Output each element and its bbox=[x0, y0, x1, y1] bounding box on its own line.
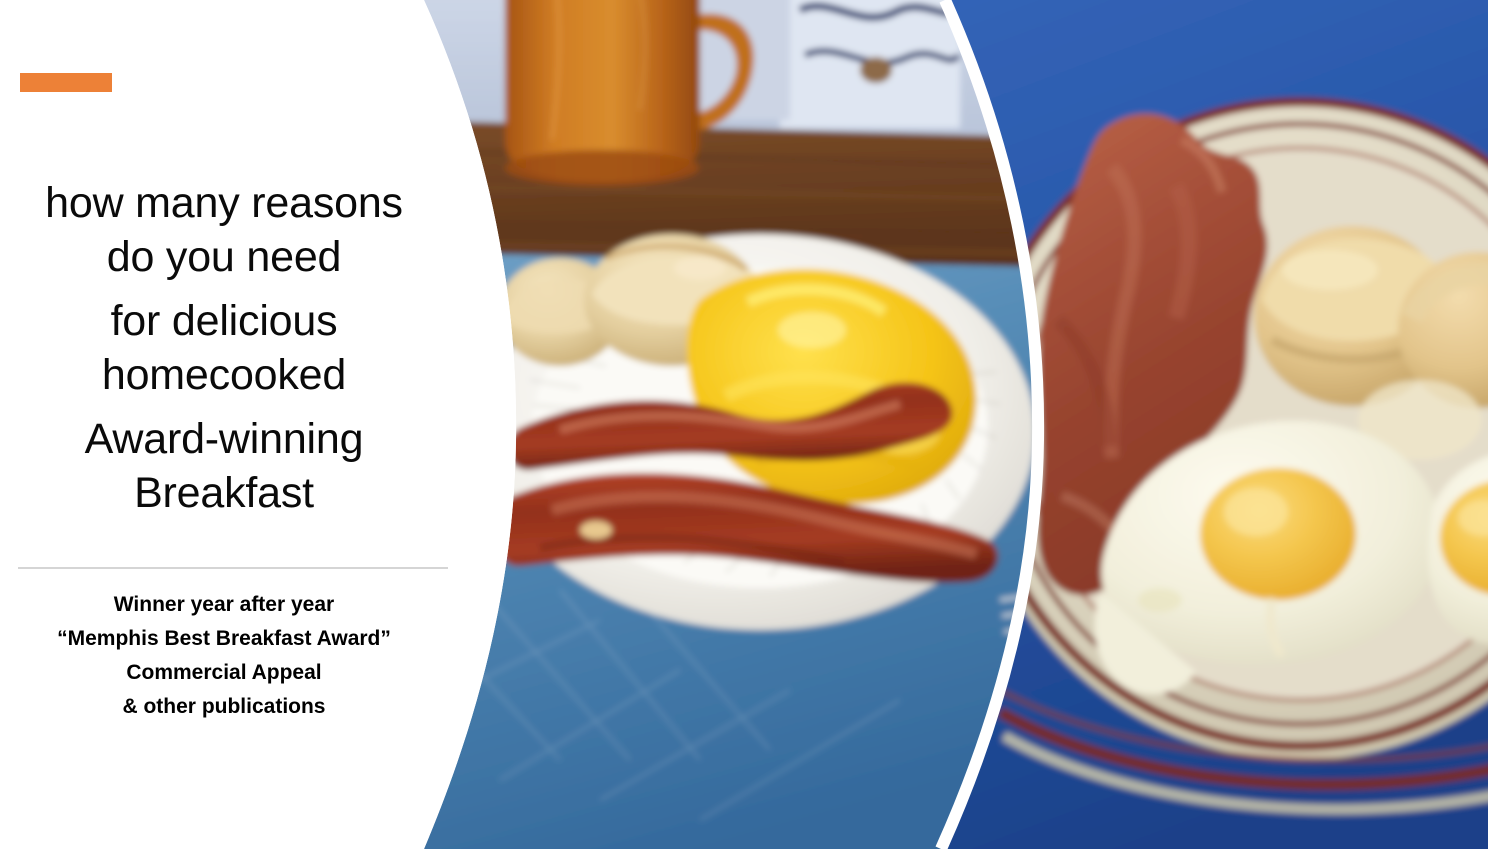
headline-line-3: for delicious bbox=[14, 294, 434, 348]
headline-block: how many reasons do you need for delicio… bbox=[14, 176, 434, 520]
headline-line-6: Breakfast bbox=[14, 466, 434, 520]
headline-group-2: for delicious homecooked bbox=[14, 294, 434, 402]
headline-line-5: Award-winning bbox=[14, 412, 434, 466]
headline-group-1: how many reasons do you need bbox=[14, 176, 434, 284]
orange-accent-bar bbox=[20, 73, 112, 92]
caption-block: Winner year after year “Memphis Best Bre… bbox=[8, 588, 440, 724]
caption-line-4: & other publications bbox=[8, 690, 440, 724]
headline-line-2: do you need bbox=[14, 230, 434, 284]
text-column: how many reasons do you need for delicio… bbox=[0, 0, 448, 849]
headline-line-4: homecooked bbox=[14, 348, 434, 402]
caption-line-2: “Memphis Best Breakfast Award” bbox=[8, 622, 440, 656]
horizontal-rule bbox=[18, 567, 448, 569]
slide-canvas: how many reasons do you need for delicio… bbox=[0, 0, 1488, 849]
caption-line-1: Winner year after year bbox=[8, 588, 440, 622]
caption-line-3: Commercial Appeal bbox=[8, 656, 440, 690]
headline-group-3: Award-winning Breakfast bbox=[14, 412, 434, 520]
headline-line-1: how many reasons bbox=[14, 176, 434, 230]
